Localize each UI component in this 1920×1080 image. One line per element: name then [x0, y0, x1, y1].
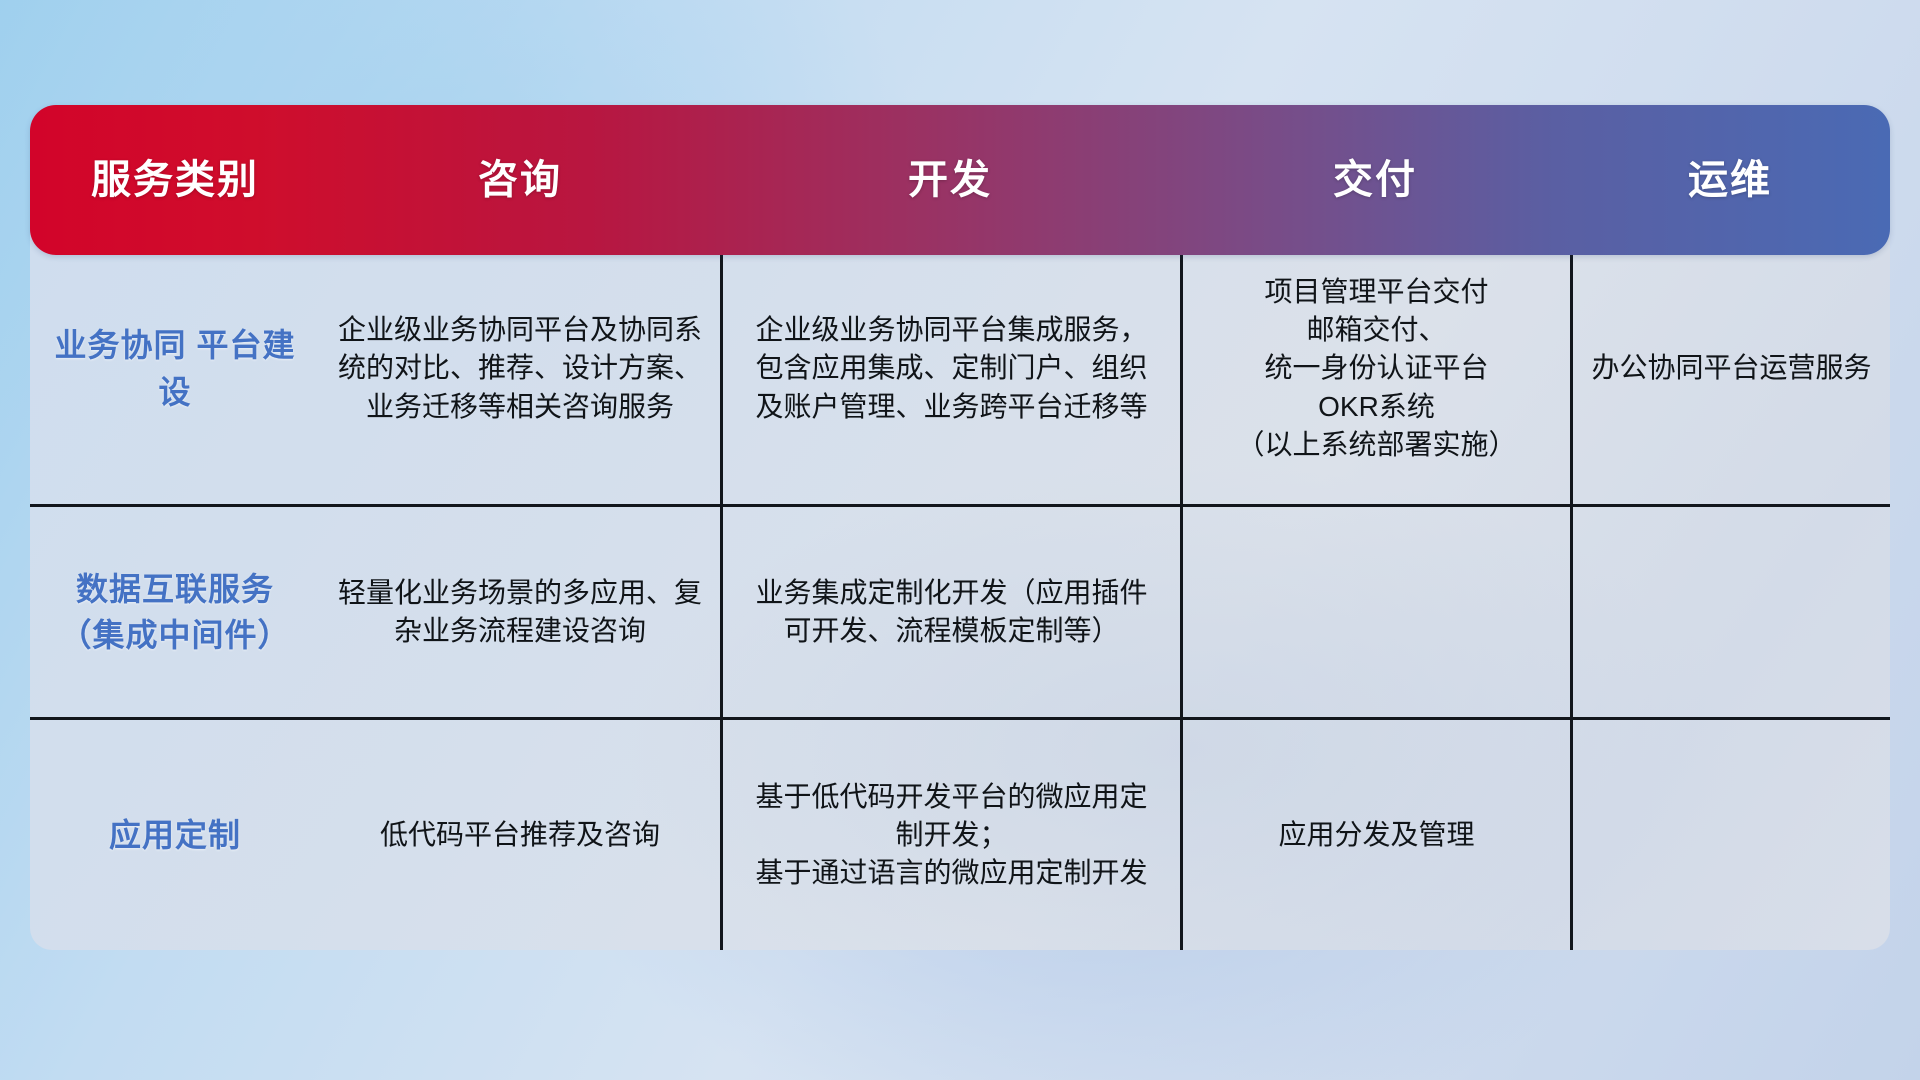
column-header-operations: 运维: [1570, 160, 1890, 200]
row-category-cell: 数据互联服务 （集成中间件）: [30, 507, 320, 717]
table-row: 应用定制 低代码平台推荐及咨询 基于低代码开发平台的微应用定 制开发； 基于通过…: [30, 720, 1890, 950]
table-row: 业务协同 平台建设 企业级业务协同平台及协同系 统的对比、推荐、设计方案、 业务…: [30, 233, 1890, 507]
row-delivery-cell: 项目管理平台交付 邮箱交付、 统一身份认证平台 OKR系统 （以上系统部署实施）: [1180, 233, 1570, 504]
service-category-table: 服务类别 咨询 开发 交付 运维 业务协同 平台建设 企业级业务协同平台及协同系…: [30, 105, 1890, 950]
table-row: 数据互联服务 （集成中间件） 轻量化业务场景的多应用、复 杂业务流程建设咨询 业…: [30, 507, 1890, 720]
column-header-development: 开发: [720, 160, 1180, 200]
cell-text: 低代码平台推荐及咨询: [380, 816, 660, 854]
category-label: 业务协同 平台建设: [44, 322, 306, 415]
column-header-delivery: 交付: [1180, 160, 1570, 200]
row-consulting-cell: 轻量化业务场景的多应用、复 杂业务流程建设咨询: [320, 507, 720, 717]
cell-text: 企业级业务协同平台及协同系 统的对比、推荐、设计方案、 业务迁移等相关咨询服务: [338, 311, 702, 425]
row-consulting-cell: 低代码平台推荐及咨询: [320, 720, 720, 950]
cell-text: 办公协同平台运营服务: [1591, 349, 1871, 387]
row-development-cell: 业务集成定制化开发（应用插件 可开发、流程模板定制等）: [720, 507, 1180, 717]
category-label: 应用定制: [109, 812, 241, 858]
cell-text: 轻量化业务场景的多应用、复 杂业务流程建设咨询: [338, 574, 702, 650]
row-development-cell: 企业级业务协同平台集成服务， 包含应用集成、定制门户、组织 及账户管理、业务跨平…: [720, 233, 1180, 504]
table-body: 业务协同 平台建设 企业级业务协同平台及协同系 统的对比、推荐、设计方案、 业务…: [30, 233, 1890, 950]
cell-text: 基于低代码开发平台的微应用定 制开发； 基于通过语言的微应用定制开发: [755, 778, 1147, 892]
row-delivery-cell: [1180, 507, 1570, 717]
category-label: 数据互联服务 （集成中间件）: [44, 566, 306, 659]
row-operations-cell: [1570, 507, 1890, 717]
row-consulting-cell: 企业级业务协同平台及协同系 统的对比、推荐、设计方案、 业务迁移等相关咨询服务: [320, 233, 720, 504]
row-category-cell: 应用定制: [30, 720, 320, 950]
row-category-cell: 业务协同 平台建设: [30, 233, 320, 504]
cell-text: 应用分发及管理: [1278, 816, 1474, 854]
column-header-consulting: 咨询: [320, 160, 720, 200]
row-operations-cell: [1570, 720, 1890, 950]
row-operations-cell: 办公协同平台运营服务: [1570, 233, 1890, 504]
cell-text: 企业级业务协同平台集成服务， 包含应用集成、定制门户、组织 及账户管理、业务跨平…: [755, 311, 1147, 425]
column-header-service-category: 服务类别: [30, 160, 320, 200]
table-header-row: 服务类别 咨询 开发 交付 运维: [30, 105, 1890, 255]
row-development-cell: 基于低代码开发平台的微应用定 制开发； 基于通过语言的微应用定制开发: [720, 720, 1180, 950]
cell-text: 项目管理平台交付 邮箱交付、 统一身份认证平台 OKR系统 （以上系统部署实施）: [1236, 273, 1516, 463]
cell-text: 业务集成定制化开发（应用插件 可开发、流程模板定制等）: [755, 574, 1147, 650]
row-delivery-cell: 应用分发及管理: [1180, 720, 1570, 950]
